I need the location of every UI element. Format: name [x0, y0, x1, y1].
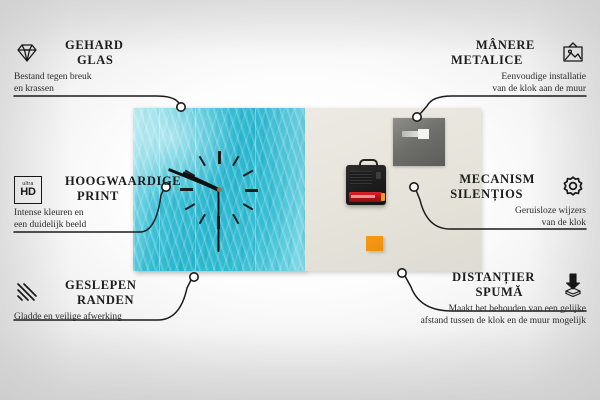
feature-description: Bestand tegen breuk en krassen [14, 71, 304, 97]
feature-geslepen-randen: GESLEPEN RANDEN Gladde en veilige afwerk… [14, 278, 304, 323]
metal-hanger-plate [393, 118, 445, 166]
ultra-hd-icon: ultra HD [14, 176, 40, 202]
feature-title: DISTANȚIER SPUMĂ [452, 270, 553, 300]
arrow-down-pad-icon [560, 272, 586, 298]
feature-hoogwaardige-print: ultra HD HOOGWAARDIGE PRINT Intense kleu… [14, 174, 304, 232]
feature-distantier-spuma: DISTANȚIER SPUMĂ Maakt het behouden van … [286, 270, 586, 328]
feature-description: Geruisloze wijzers van de klok [296, 205, 586, 231]
feature-title: HOOGWAARDIGE PRINT [47, 174, 181, 204]
beveled-edge-icon [14, 280, 40, 306]
feature-gehard-glas: GEHARD GLAS Bestand tegen breuk en krass… [14, 38, 304, 96]
feature-description: Eenvoudige installatie van de klok aan d… [296, 71, 586, 97]
feature-description: Maakt het behouden van een gelijke afsta… [286, 303, 586, 329]
infographic-canvas: GEHARD GLAS Bestand tegen breuk en krass… [0, 0, 600, 400]
feature-title: GESLEPEN RANDEN [47, 278, 137, 308]
foam-spacer [366, 236, 383, 251]
hanger-slot [402, 131, 428, 137]
picture-frame-icon [560, 40, 586, 66]
gear-icon [560, 174, 586, 200]
feature-title: GEHARD GLAS [47, 38, 123, 68]
feature-description: Gladde en veilige afwerking [14, 311, 304, 324]
feature-title: MÂNERE METALICE [451, 38, 553, 68]
feature-mecanism-silentios: MECANISM SILENȚIOS Geruisloze wijzers va… [296, 172, 586, 230]
feature-title: MECANISM SILENȚIOS [450, 172, 553, 202]
feature-manere-metalice: MÂNERE METALICE Eenvoudige installatie v… [296, 38, 586, 96]
diamond-icon [14, 40, 40, 66]
feature-description: Intense kleuren en een duidelijk beeld [14, 207, 304, 233]
hanging-loop [359, 159, 378, 169]
